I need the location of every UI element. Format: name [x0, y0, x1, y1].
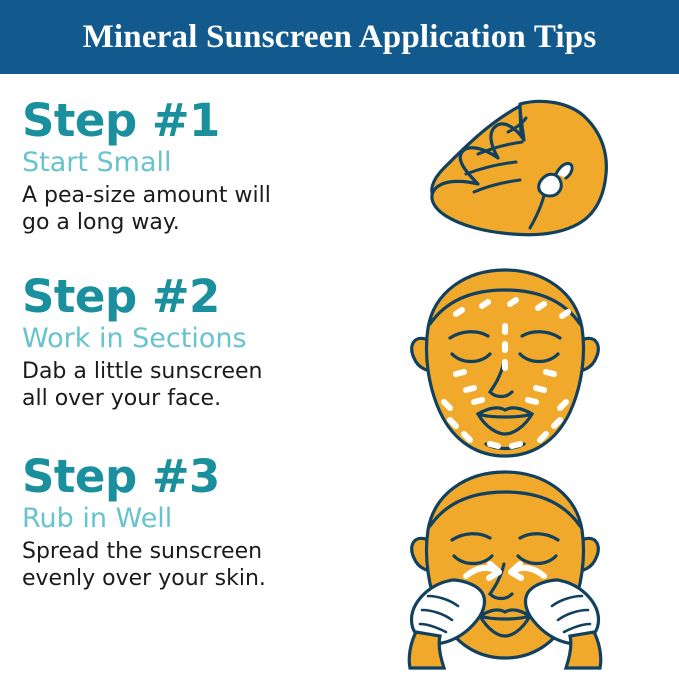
step-3-body: Spread the sunscreen evenly over your sk…: [22, 538, 352, 592]
step-1-body: A pea-size amount will go a long way.: [22, 182, 352, 236]
step-1-title: Step #1: [22, 96, 352, 146]
header-bar: Mineral Sunscreen Application Tips: [0, 0, 679, 74]
step-2-title: Step #2: [22, 272, 352, 322]
step-2-body: Dab a little sunscreen all over your fac…: [22, 358, 352, 412]
step-block-2: Step #2 Work in Sections Dab a little su…: [22, 272, 352, 412]
step-block-1: Step #1 Start Small A pea-size amount wi…: [22, 96, 352, 236]
steps-column: Step #1 Start Small A pea-size amount wi…: [22, 96, 352, 614]
illustration-face-rub: [370, 470, 660, 675]
step-1-subtitle: Start Small: [22, 147, 352, 179]
step-3-title: Step #3: [22, 452, 352, 502]
poster: Mineral Sunscreen Application Tips Step …: [0, 0, 679, 679]
illustration-face-dabs: [370, 262, 660, 467]
illustration-open-palm: [370, 88, 660, 263]
step-3-subtitle: Rub in Well: [22, 503, 352, 535]
step-block-3: Step #3 Rub in Well Spread the sunscreen…: [22, 452, 352, 592]
step-2-subtitle: Work in Sections: [22, 323, 352, 355]
page-title: Mineral Sunscreen Application Tips: [83, 19, 597, 56]
